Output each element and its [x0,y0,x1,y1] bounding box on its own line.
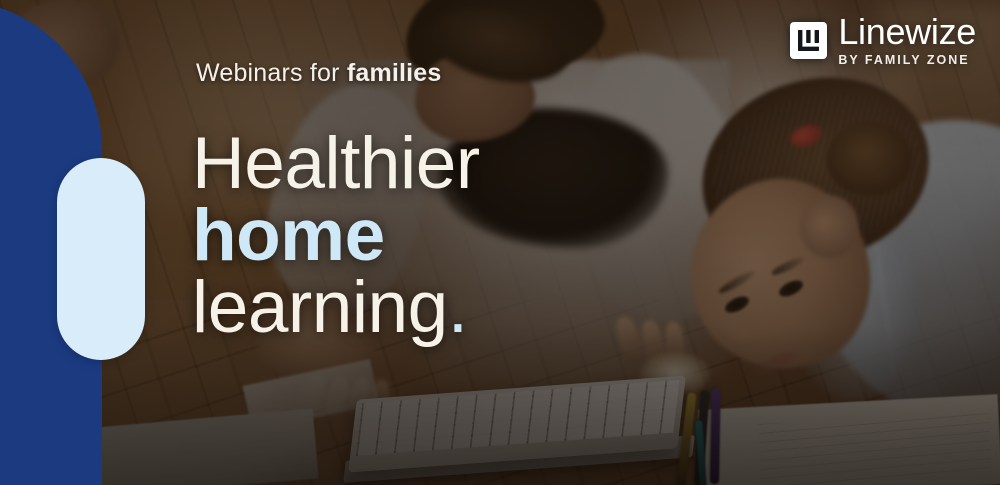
headline-line-1: Healthier [192,128,480,200]
logo-wordmark: Linewize [838,14,976,50]
eyebrow-emphasis: families [347,59,442,87]
headline-terminal-dot: . [448,267,468,348]
webinar-promo-banner: Webinars for families Healthier home lea… [0,0,1000,485]
linewize-logo[interactable]: Linewize BY FAMILY ZONE [790,14,976,67]
headline-line-2: home [192,200,480,272]
logo-tagline: BY FAMILY ZONE [838,54,969,67]
blue-pill-accent [57,158,145,360]
photo-vertical-overlay [0,0,1000,485]
linewize-bracket-logomark-icon [790,22,827,59]
headline-line-3-word: learning [192,267,448,348]
eyebrow-text: Webinars for families [196,60,442,88]
headline-line-3: learning. [192,272,480,344]
headline: Healthier home learning. [192,128,480,344]
eyebrow-prefix: Webinars for [196,59,347,87]
logo-wordmark-group: Linewize BY FAMILY ZONE [838,14,976,67]
